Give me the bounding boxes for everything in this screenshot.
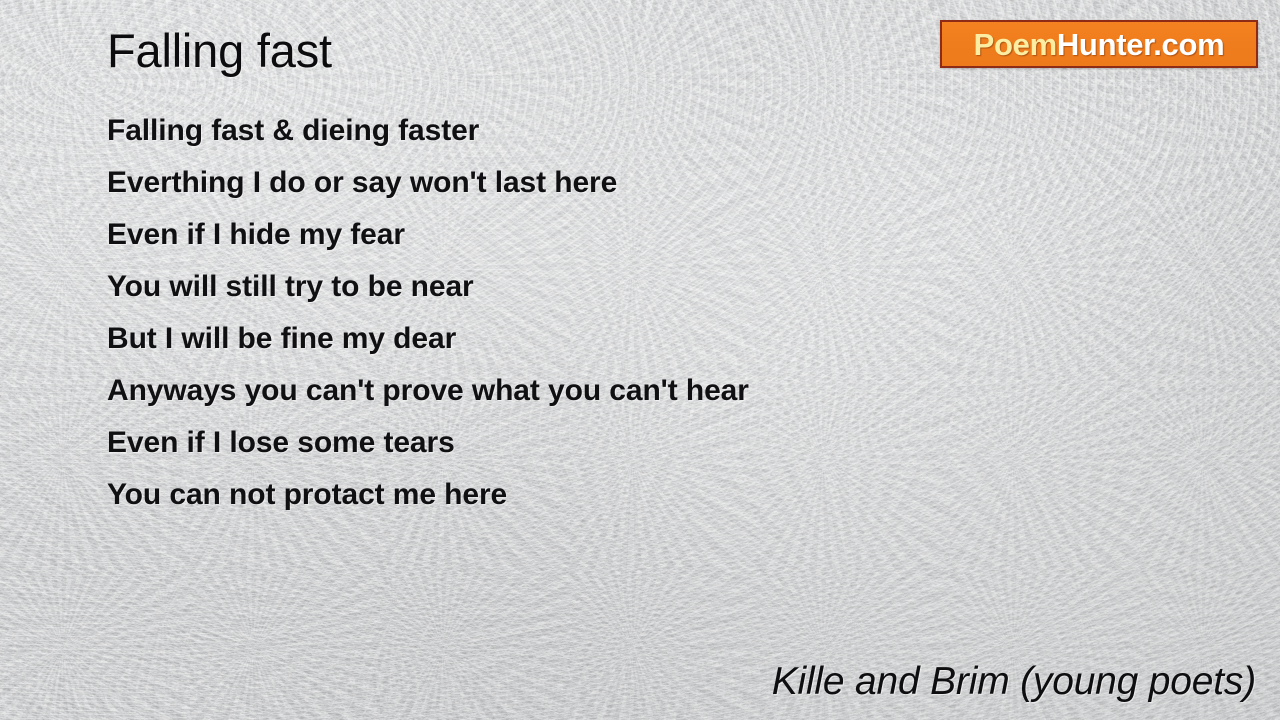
poem-line: Even if I lose some tears xyxy=(107,417,1107,469)
poem-line: You will still try to be near xyxy=(107,261,1107,313)
logo-text-hunter: Hunter.com xyxy=(1057,27,1225,62)
poem-content: Falling fast Falling fast & dieing faste… xyxy=(0,0,1280,720)
poem-line: Everthing I do or say won't last here xyxy=(107,157,1107,209)
poem-image-canvas: Falling fast Falling fast & dieing faste… xyxy=(0,0,1280,720)
poemhunter-logo-text: PoemHunter.com xyxy=(974,29,1225,60)
poem-author-credit: Kille and Brim (young poets) xyxy=(772,660,1256,704)
poem-line: Falling fast & dieing faster xyxy=(107,105,1107,157)
poem-line: Even if I hide my fear xyxy=(107,209,1107,261)
page-title: Falling fast xyxy=(107,26,332,76)
poem-line: Anyways you can't prove what you can't h… xyxy=(107,365,1107,417)
poem-line: But I will be fine my dear xyxy=(107,313,1107,365)
poemhunter-logo-badge[interactable]: PoemHunter.com xyxy=(940,20,1258,68)
poem-body: Falling fast & dieing faster Everthing I… xyxy=(107,105,1107,521)
logo-text-poem: Poem xyxy=(974,27,1057,62)
poem-line: You can not protact me here xyxy=(107,469,1107,521)
